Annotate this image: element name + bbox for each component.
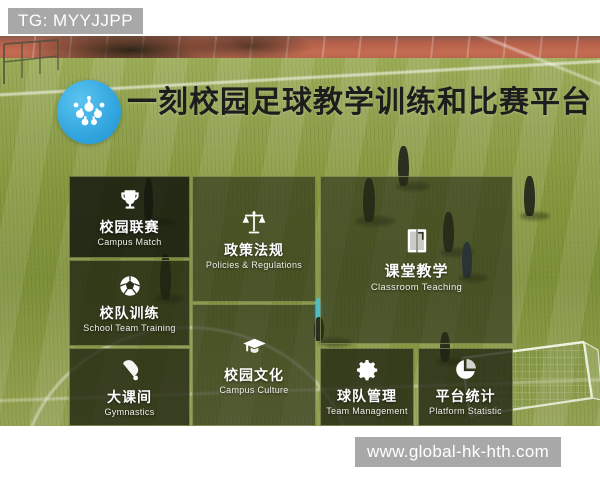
tile-label-cn: 校队训练	[100, 305, 160, 321]
tile-label-cn: 大课间	[107, 389, 152, 405]
tile-label-cn: 校园文化	[224, 367, 284, 383]
page-title: 一刻校园足球教学训练和比赛平台	[127, 88, 592, 118]
book-board-icon	[403, 227, 431, 257]
tile-label-cn: 校园联赛	[100, 219, 160, 235]
tile-label-en: School Team Training	[83, 323, 175, 334]
tile-label-en: Gymnastics	[104, 407, 154, 418]
tg-watermark: TG: MYYJJPP	[8, 8, 143, 34]
tile-label-en: Campus Culture	[219, 385, 288, 396]
tile-label-en: Platform Statistic	[429, 406, 502, 417]
tile-classroom-teaching[interactable]: 课堂教学 Classroom Teaching	[320, 176, 513, 344]
graduation-cap-icon	[241, 334, 268, 361]
scales-icon	[240, 208, 268, 236]
tile-campus-culture[interactable]: 校园文化 Campus Culture	[192, 304, 316, 426]
tile-platform-statistic[interactable]: 平台统计 Platform Statistic	[418, 348, 513, 426]
tile-label-cn: 平台统计	[436, 388, 496, 404]
tile-label-cn: 课堂教学	[384, 263, 448, 280]
tile-campus-match[interactable]: 校园联赛 Campus Match	[69, 176, 190, 258]
tile-label-en: Policies & Regulations	[206, 260, 302, 271]
tile-team-management[interactable]: 球队管理 Team Management	[320, 348, 414, 426]
tile-gymnastics[interactable]: 大课间 Gymnastics	[69, 348, 190, 426]
trophy-icon	[117, 187, 143, 213]
gear-icon	[355, 358, 379, 382]
site-watermark: www.global-hk-hth.com	[355, 437, 561, 467]
pie-chart-icon	[453, 357, 478, 382]
bell-icon	[117, 357, 143, 383]
splash-logo-icon	[68, 91, 110, 133]
tile-label-en: Campus Match	[97, 237, 161, 248]
poster-image: 一刻校园足球教学训练和比赛平台 校园联赛 Campus Match 校队训练	[0, 36, 600, 426]
tile-label-cn: 球队管理	[337, 388, 397, 404]
tile-school-team-training[interactable]: 校队训练 School Team Training	[69, 260, 190, 346]
tile-label-en: Classroom Teaching	[371, 282, 462, 293]
tile-label-cn: 政策法规	[224, 242, 284, 258]
app-logo-badge	[57, 80, 121, 144]
tile-label-en: Team Management	[326, 406, 408, 417]
soccer-ball-icon	[117, 273, 143, 299]
tile-policies-regulations[interactable]: 政策法规 Policies & Regulations	[192, 176, 316, 302]
